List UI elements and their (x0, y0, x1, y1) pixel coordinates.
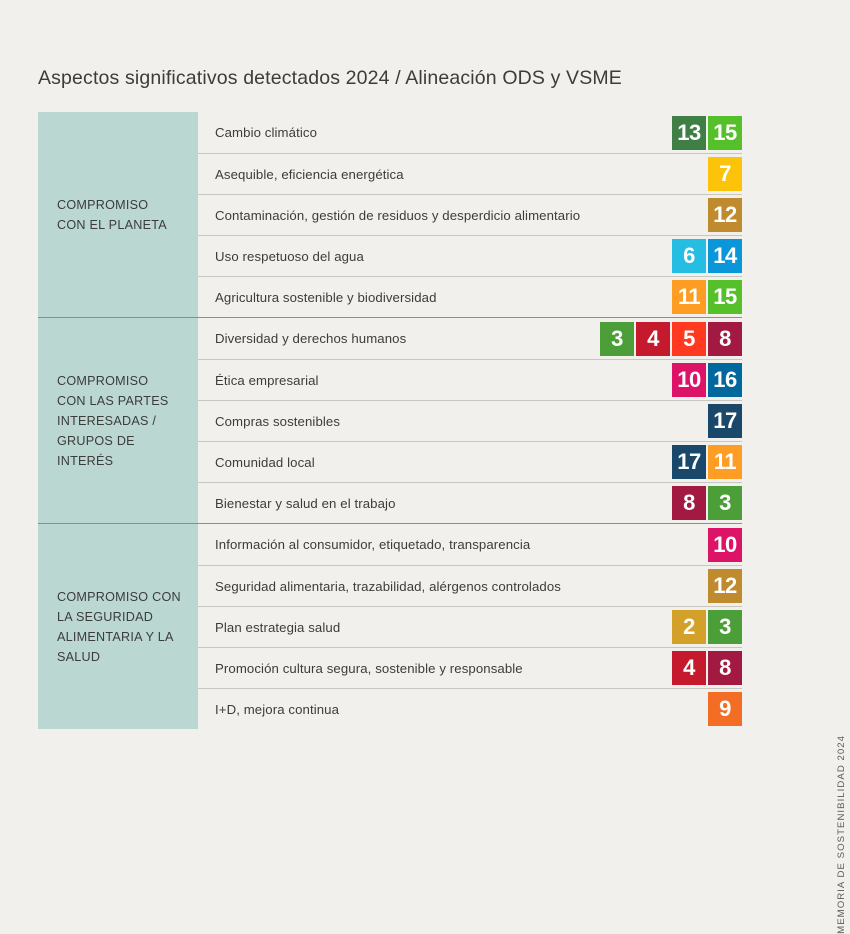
table-row: Seguridad alimentaria, trazabilidad, alé… (198, 565, 742, 606)
sdg-badge: 5 (672, 322, 706, 356)
sdg-badge: 8 (708, 651, 742, 685)
topic-label: Compras sostenibles (215, 414, 340, 429)
sdg-badge: 8 (672, 486, 706, 520)
sdg-badge: 16 (708, 363, 742, 397)
table-row: Asequible, eficiencia energética7 (198, 153, 742, 194)
sdg-badge-group: 48 (672, 651, 742, 685)
table-row: Diversidad y derechos humanos3458 (198, 318, 742, 359)
sdg-badge: 3 (708, 610, 742, 644)
topic-label: Asequible, eficiencia energética (215, 167, 404, 182)
topic-label: Contaminación, gestión de residuos y des… (215, 208, 580, 223)
table-row: Promoción cultura segura, sostenible y r… (198, 647, 742, 688)
sdg-badge-group: 23 (672, 610, 742, 644)
sdg-badge: 3 (708, 486, 742, 520)
sdg-badge: 10 (672, 363, 706, 397)
report-side-caption: MEMORIA DE SOSTENIBILIDAD 2024 (836, 735, 847, 934)
sdg-badge-group: 1115 (672, 280, 742, 314)
sdg-badge: 12 (708, 569, 742, 603)
sdg-badge: 4 (672, 651, 706, 685)
table-row: Ética empresarial1016 (198, 359, 742, 400)
sdg-badge: 13 (672, 116, 706, 150)
sdg-badge-group: 1016 (672, 363, 742, 397)
topic-label: Plan estrategia salud (215, 620, 340, 635)
topic-label: Información al consumidor, etiquetado, t… (215, 537, 530, 552)
topic-label: Agricultura sostenible y biodiversidad (215, 290, 437, 305)
sdg-badge-group: 17 (708, 404, 742, 438)
sdg-badge: 11 (708, 445, 742, 479)
materiality-matrix-table: COMPROMISO CON EL PLANETACambio climátic… (38, 112, 742, 729)
sdg-badge: 4 (636, 322, 670, 356)
sdg-badge: 9 (708, 692, 742, 726)
table-row: Cambio climático1315 (198, 112, 742, 153)
commitment-group-label: COMPROMISO CON LA SEGURIDAD ALIMENTARIA … (57, 587, 181, 667)
sdg-badge: 2 (672, 610, 706, 644)
table-row: Uso respetuoso del agua614 (198, 235, 742, 276)
topic-label: Diversidad y derechos humanos (215, 331, 406, 346)
topic-label: Seguridad alimentaria, trazabilidad, alé… (215, 579, 561, 594)
topic-label: Ética empresarial (215, 373, 319, 388)
sdg-badge: 15 (708, 116, 742, 150)
commitment-group: COMPROMISO CON LAS PARTES INTERESADAS / … (38, 317, 742, 523)
table-row: Información al consumidor, etiquetado, t… (198, 524, 742, 565)
topic-label: Promoción cultura segura, sostenible y r… (215, 661, 523, 676)
commitment-group-label: COMPROMISO CON EL PLANETA (57, 195, 167, 235)
sdg-badge: 14 (708, 239, 742, 273)
sdg-badge: 8 (708, 322, 742, 356)
table-row: I+D, mejora continua9 (198, 688, 742, 729)
topic-row-list: Cambio climático1315Asequible, eficienci… (198, 112, 742, 317)
table-row: Compras sostenibles17 (198, 400, 742, 441)
commitment-group-label-cell: COMPROMISO CON LA SEGURIDAD ALIMENTARIA … (38, 524, 198, 729)
sdg-badge: 17 (672, 445, 706, 479)
topic-row-list: Información al consumidor, etiquetado, t… (198, 524, 742, 729)
table-row: Contaminación, gestión de residuos y des… (198, 194, 742, 235)
sdg-badge-group: 614 (672, 239, 742, 273)
sdg-badge: 10 (708, 528, 742, 562)
sdg-badge: 12 (708, 198, 742, 232)
commitment-group-label-cell: COMPROMISO CON EL PLANETA (38, 112, 198, 317)
topic-row-list: Diversidad y derechos humanos3458Ética e… (198, 318, 742, 523)
topic-label: Comunidad local (215, 455, 315, 470)
commitment-group: COMPROMISO CON LA SEGURIDAD ALIMENTARIA … (38, 523, 742, 729)
sdg-badge-group: 3458 (600, 322, 742, 356)
topic-label: Uso respetuoso del agua (215, 249, 364, 264)
sdg-badge-group: 1315 (672, 116, 742, 150)
sdg-badge-group: 7 (708, 157, 742, 191)
sdg-badge: 17 (708, 404, 742, 438)
sdg-badge: 15 (708, 280, 742, 314)
sdg-badge: 7 (708, 157, 742, 191)
sdg-badge-group: 12 (708, 198, 742, 232)
sdg-badge-group: 12 (708, 569, 742, 603)
commitment-group: COMPROMISO CON EL PLANETACambio climátic… (38, 112, 742, 317)
topic-label: Bienestar y salud en el trabajo (215, 496, 396, 511)
table-row: Bienestar y salud en el trabajo83 (198, 482, 742, 523)
sdg-badge-group: 9 (708, 692, 742, 726)
table-row: Agricultura sostenible y biodiversidad11… (198, 276, 742, 317)
topic-label: I+D, mejora continua (215, 702, 339, 717)
page-title: Aspectos significativos detectados 2024 … (38, 67, 622, 90)
sdg-badge: 6 (672, 239, 706, 273)
commitment-group-label: COMPROMISO CON LAS PARTES INTERESADAS / … (57, 371, 169, 471)
sdg-badge-group: 10 (708, 528, 742, 562)
sdg-badge-group: 83 (672, 486, 742, 520)
commitment-group-label-cell: COMPROMISO CON LAS PARTES INTERESADAS / … (38, 318, 198, 523)
sdg-badge: 11 (672, 280, 706, 314)
sdg-badge-group: 1711 (672, 445, 742, 479)
sdg-badge: 3 (600, 322, 634, 356)
topic-label: Cambio climático (215, 125, 317, 140)
table-row: Comunidad local1711 (198, 441, 742, 482)
table-row: Plan estrategia salud23 (198, 606, 742, 647)
